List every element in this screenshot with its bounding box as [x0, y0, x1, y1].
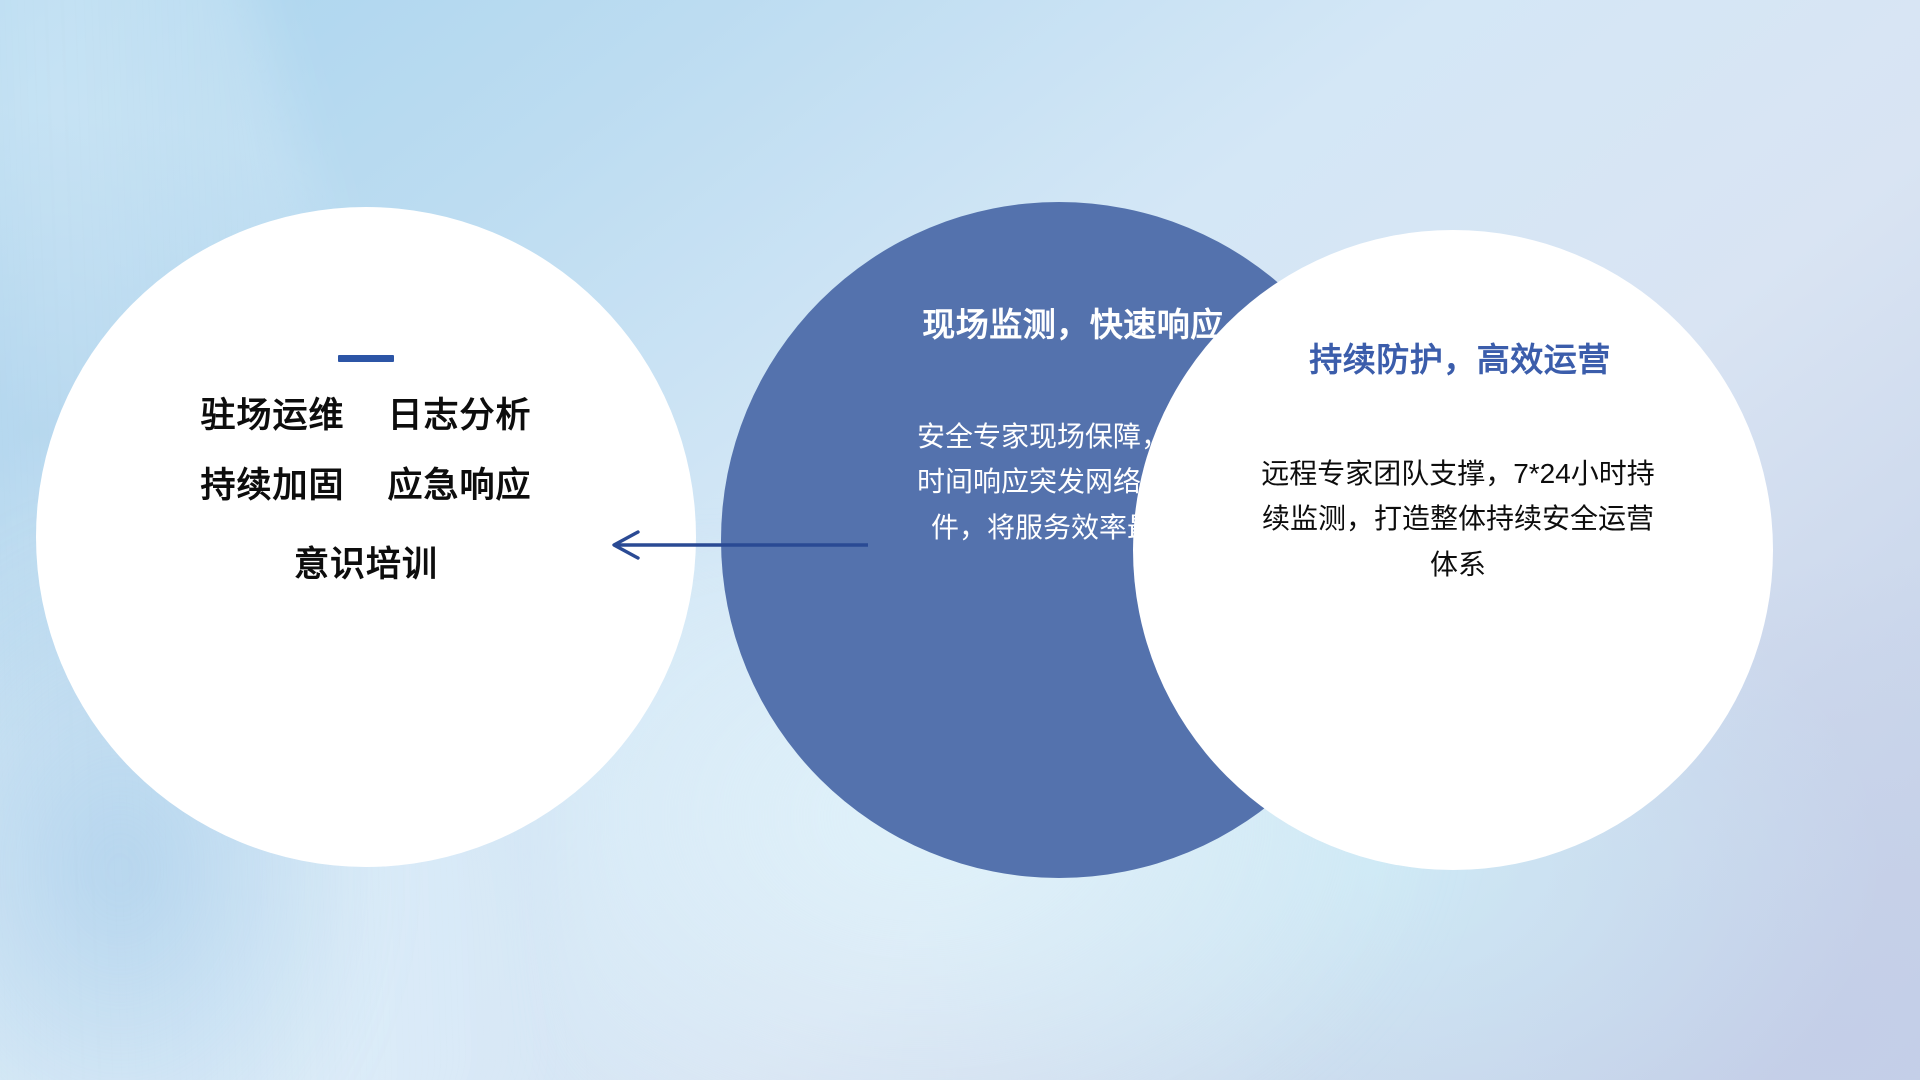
node-continuous-protection-content: 持续防护，高效运营 远程专家团队支撑，7*24小时持续监测，打造整体持续安全运营… [1133, 230, 1773, 870]
node-continuous-protection[interactable]: 持续防护，高效运营 远程专家团队支撑，7*24小时持续监测，打造整体持续安全运营… [1133, 230, 1773, 870]
node-capabilities[interactable]: 驻场运维 日志分析 持续加固 应急响应 意识培训 [36, 207, 696, 867]
node-capabilities-content: 驻场运维 日志分析 持续加固 应急响应 意识培训 [36, 207, 696, 867]
capability-row-3: 意识培训 [294, 547, 438, 584]
arrow-left-icon [600, 515, 870, 575]
diagram-canvas: 现场监测，快速响应 安全专家现场保障，最短时间响应突发网络安全事件，将服务效率最… [0, 0, 1920, 1080]
capability-row-1: 驻场运维 日志分析 [201, 398, 532, 435]
node-continuous-protection-body: 远程专家团队支撑，7*24小时持续监测，打造整体持续安全运营体系 [1258, 451, 1658, 587]
connector-arrow [600, 515, 870, 575]
node-continuous-protection-title: 持续防护，高效运营 [1309, 333, 1611, 381]
accent-divider-icon [338, 355, 394, 362]
capability-row-2: 持续加固 应急响应 [201, 468, 532, 505]
